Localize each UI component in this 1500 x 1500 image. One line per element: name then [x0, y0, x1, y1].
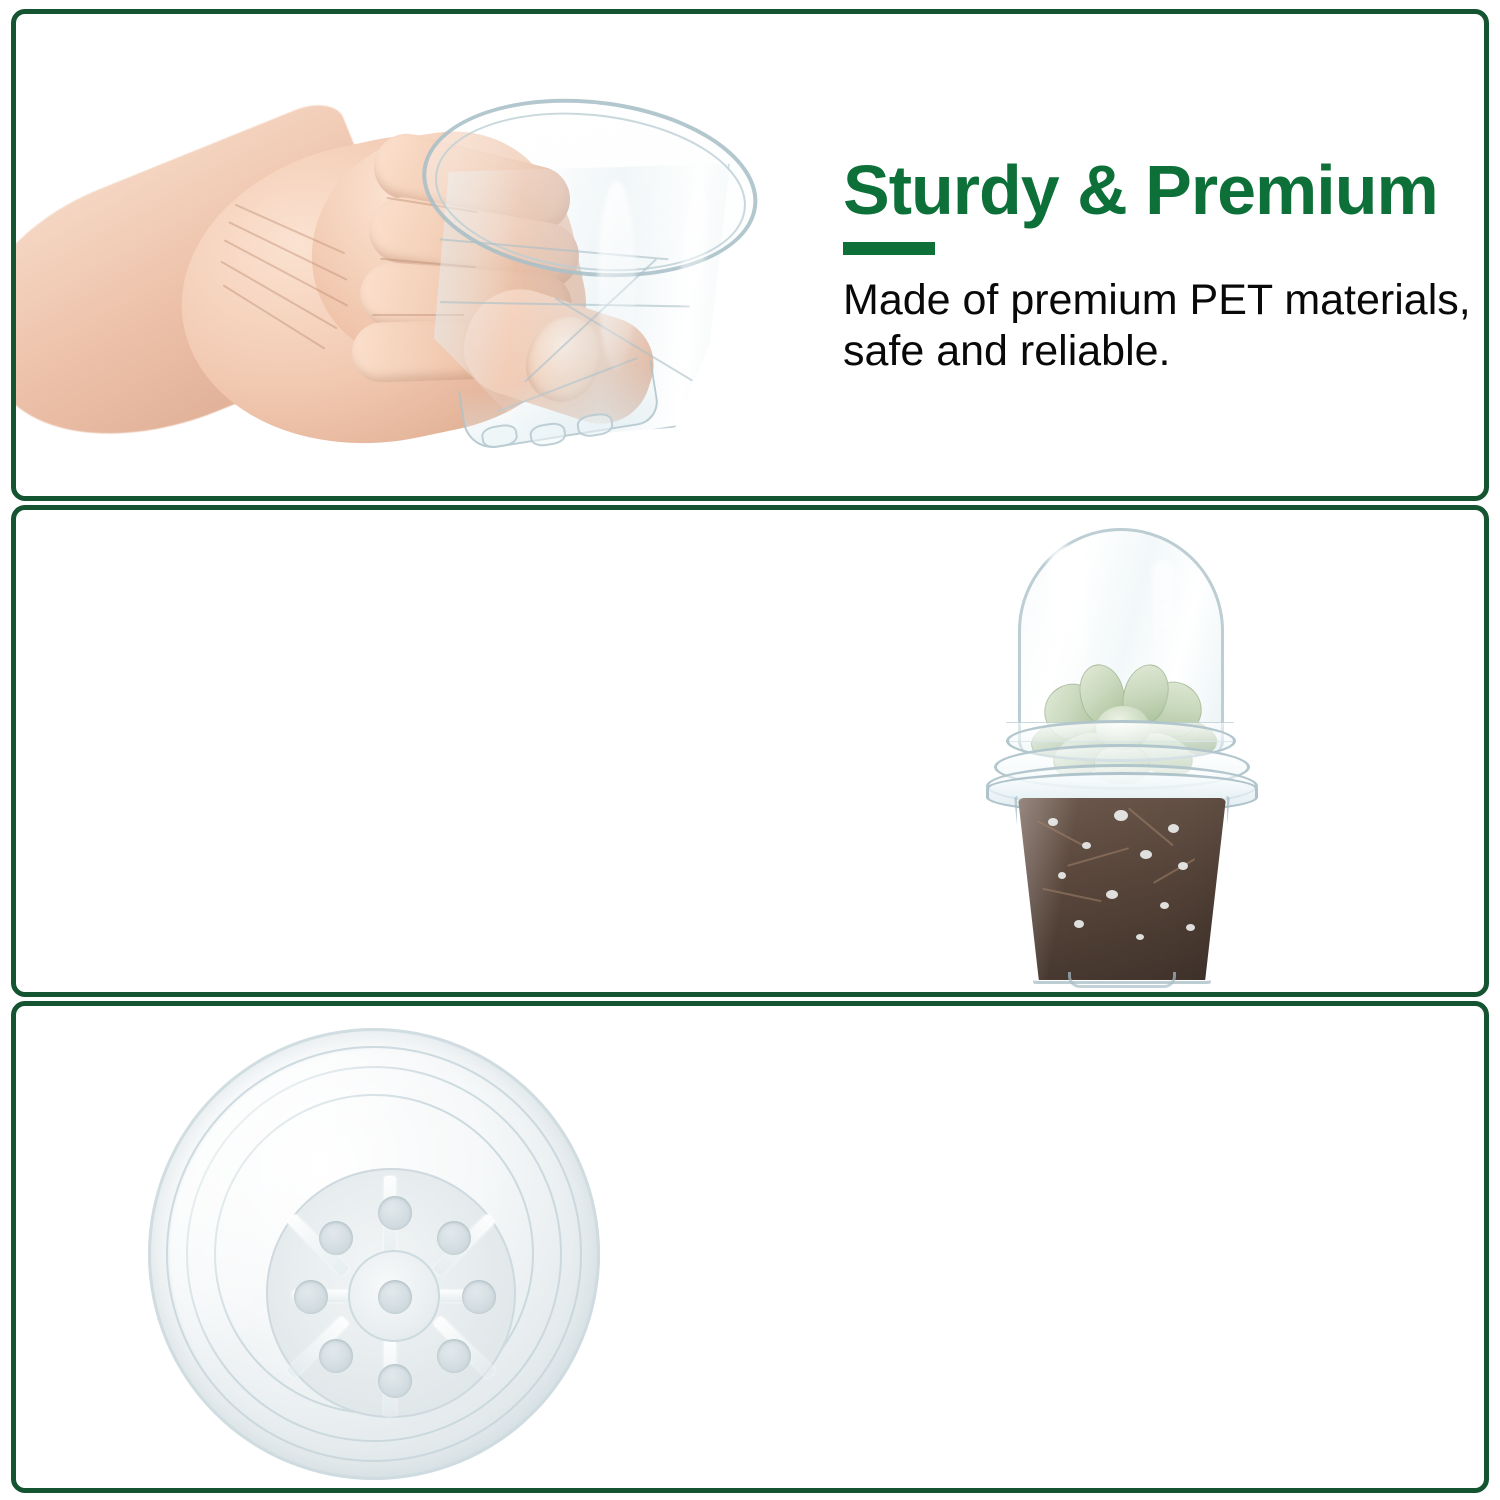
drainage-hole: [378, 1364, 412, 1398]
clear-pet-cup: [358, 65, 811, 493]
feature-text-sturdy-premium: Sturdy & Premium Made of premium PET mat…: [843, 155, 1471, 376]
domed-pot-with-succulent-image: [956, 520, 1296, 990]
drainage-hole: [437, 1221, 471, 1255]
feature-panel-drainage-holes: Drainage Holes Drain water and prevent t…: [11, 1001, 1489, 1493]
feature-panel-clear-observation: Clear Observation Allow you to observe t…: [11, 505, 1489, 997]
drainage-hole: [378, 1196, 412, 1230]
drainage-hole-center: [378, 1280, 412, 1314]
body-line: Made of premium PET materials,: [843, 275, 1471, 326]
body-line: safe and reliable.: [843, 326, 1471, 377]
feature-panel-sturdy-premium: Sturdy & Premium Made of premium PET mat…: [11, 9, 1489, 501]
drainage-hole: [437, 1339, 471, 1373]
drainage-hole: [319, 1221, 353, 1255]
drainage-hole: [294, 1280, 328, 1314]
panel-body-text: Made of premium PET materials, safe and …: [843, 275, 1471, 376]
drainage-hole: [462, 1280, 496, 1314]
pot-wall-outline: [1014, 796, 1230, 984]
hand-squeezing-cup-image: [16, 14, 836, 496]
pot-foot: [1068, 972, 1176, 988]
infographic-page: Sturdy & Premium Made of premium PET mat…: [0, 0, 1500, 1500]
pot-interior-drainage-image: [126, 1016, 616, 1488]
drainage-hole: [319, 1339, 353, 1373]
panel-heading: Sturdy & Premium: [843, 155, 1471, 225]
cup-highlight: [598, 181, 636, 371]
heading-underline-rule: [843, 242, 935, 255]
